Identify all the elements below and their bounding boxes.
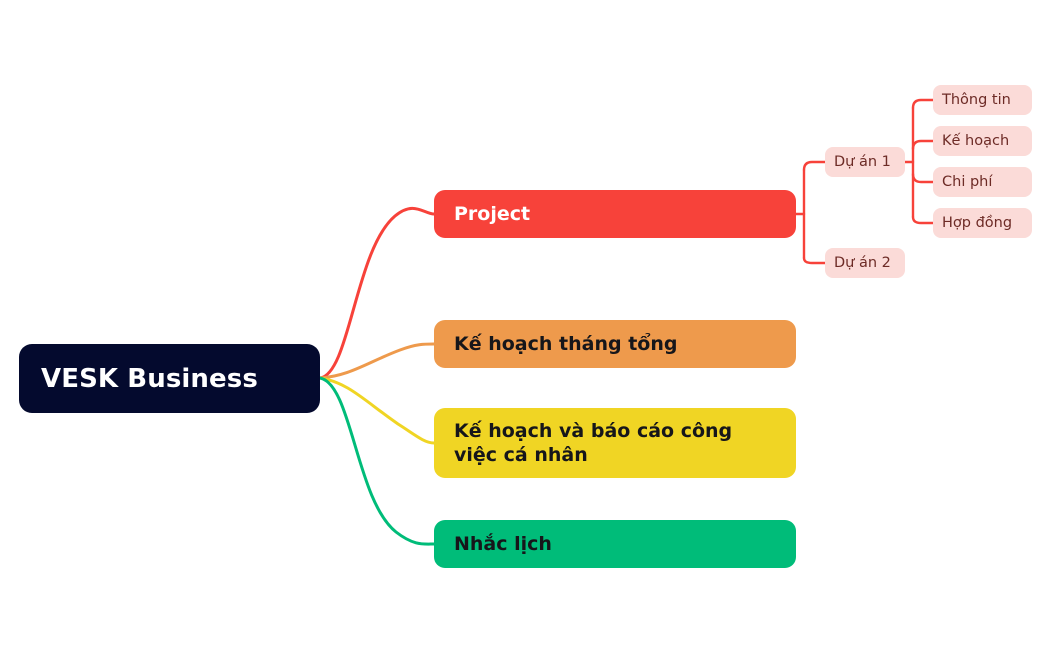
mindmap-node-hop-dong[interactable]: Hợp đồng (933, 208, 1032, 238)
root-label: VESK Business (41, 364, 298, 394)
mindmap-node-ke-hoach[interactable]: Kế hoạch (933, 126, 1032, 156)
edge-to-ke-hoach (913, 141, 933, 149)
edge-root-to-nhac-lich (320, 378, 434, 544)
thong-tin-label: Thông tin (942, 92, 1023, 108)
project-label: Project (454, 202, 776, 226)
du-an-2-label: Dự án 2 (834, 255, 896, 271)
mindmap-node-project[interactable]: Project (434, 190, 796, 238)
mindmap-node-root[interactable]: VESK Business (19, 344, 320, 413)
mindmap-canvas: VESK Business Project Kế hoạch tháng tổn… (0, 0, 1049, 650)
edge-root-to-ke-hoach-thang-tong (320, 344, 434, 378)
mindmap-node-ke-hoach-bao-cao-ca-nhan[interactable]: Kế hoạch và báo cáo công việc cá nhân (434, 408, 796, 478)
ke-hoach-label: Kế hoạch (942, 133, 1023, 149)
edge-to-du-an-1 (804, 162, 825, 170)
chi-phi-label: Chi phí (942, 174, 1023, 190)
mindmap-node-chi-phi[interactable]: Chi phí (933, 167, 1032, 197)
du-an-1-label: Dự án 1 (834, 154, 896, 170)
hop-dong-label: Hợp đồng (942, 215, 1023, 231)
ke-hoach-thang-tong-label: Kế hoạch tháng tổng (454, 332, 776, 356)
mindmap-node-du-an-2[interactable]: Dự án 2 (825, 248, 905, 278)
edge-root-to-project (320, 208, 434, 378)
ke-hoach-bao-cao-ca-nhan-label: Kế hoạch và báo cáo công việc cá nhân (454, 419, 776, 468)
mindmap-node-ke-hoach-thang-tong[interactable]: Kế hoạch tháng tổng (434, 320, 796, 368)
edge-root-to-ke-hoach-bao-cao-ca-nhan (320, 378, 434, 443)
nhac-lich-label: Nhắc lịch (454, 532, 776, 556)
edge-to-hop-dong (913, 217, 933, 223)
mindmap-node-thong-tin[interactable]: Thông tin (933, 85, 1032, 115)
edge-to-thong-tin (913, 100, 933, 108)
edge-to-du-an-2 (804, 258, 825, 263)
mindmap-node-du-an-1[interactable]: Dự án 1 (825, 147, 905, 177)
mindmap-node-nhac-lich[interactable]: Nhắc lịch (434, 520, 796, 568)
edge-to-chi-phi (913, 174, 933, 182)
